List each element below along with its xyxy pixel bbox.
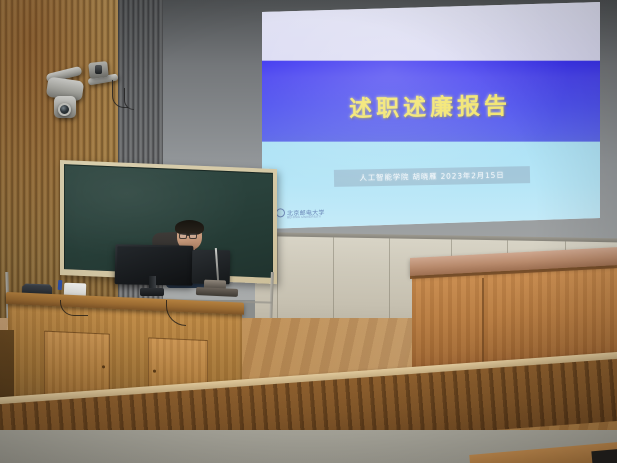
bench-shadow-end: [591, 449, 617, 463]
glasses-bridge: [187, 235, 190, 236]
slide-logo: 北京邮电大学 BEIJING UNIVERSITY: [276, 208, 325, 218]
camera-lens-icon: [58, 103, 71, 116]
projection-screen: 述职述廉报告 人工智能学院 胡晓雁 2023年2月15日 北京邮电大学 BEIJ…: [260, 2, 600, 230]
monitor-stand: [140, 288, 164, 296]
slide-title: 述职述廉报告: [260, 85, 601, 126]
glasses-icon: [179, 233, 187, 239]
cabinet-knob-icon: [102, 365, 105, 368]
slide-subtitle: 人工智能学院 胡晓雁 2023年2月15日: [359, 170, 504, 184]
cabinet-knob-right-icon: [153, 370, 156, 373]
slide-subtitle-bar: 人工智能学院 胡晓雁 2023年2月15日: [334, 166, 530, 187]
glasses-right-lens-icon: [189, 233, 197, 239]
projection-screen-surface: 述职述廉报告 人工智能学院 胡晓雁 2023年2月15日 北京邮电大学 BEIJ…: [260, 2, 600, 230]
blue-marker: [58, 280, 63, 290]
university-seal-icon: [276, 208, 285, 217]
slide-logo-subtext: BEIJING UNIVERSITY: [287, 215, 321, 220]
camera-secondary-lens-icon: [95, 65, 102, 74]
lecture-hall-photo: 述职述廉报告 人工智能学院 胡晓雁 2023年2月15日 北京邮电大学 BEIJ…: [0, 0, 617, 463]
